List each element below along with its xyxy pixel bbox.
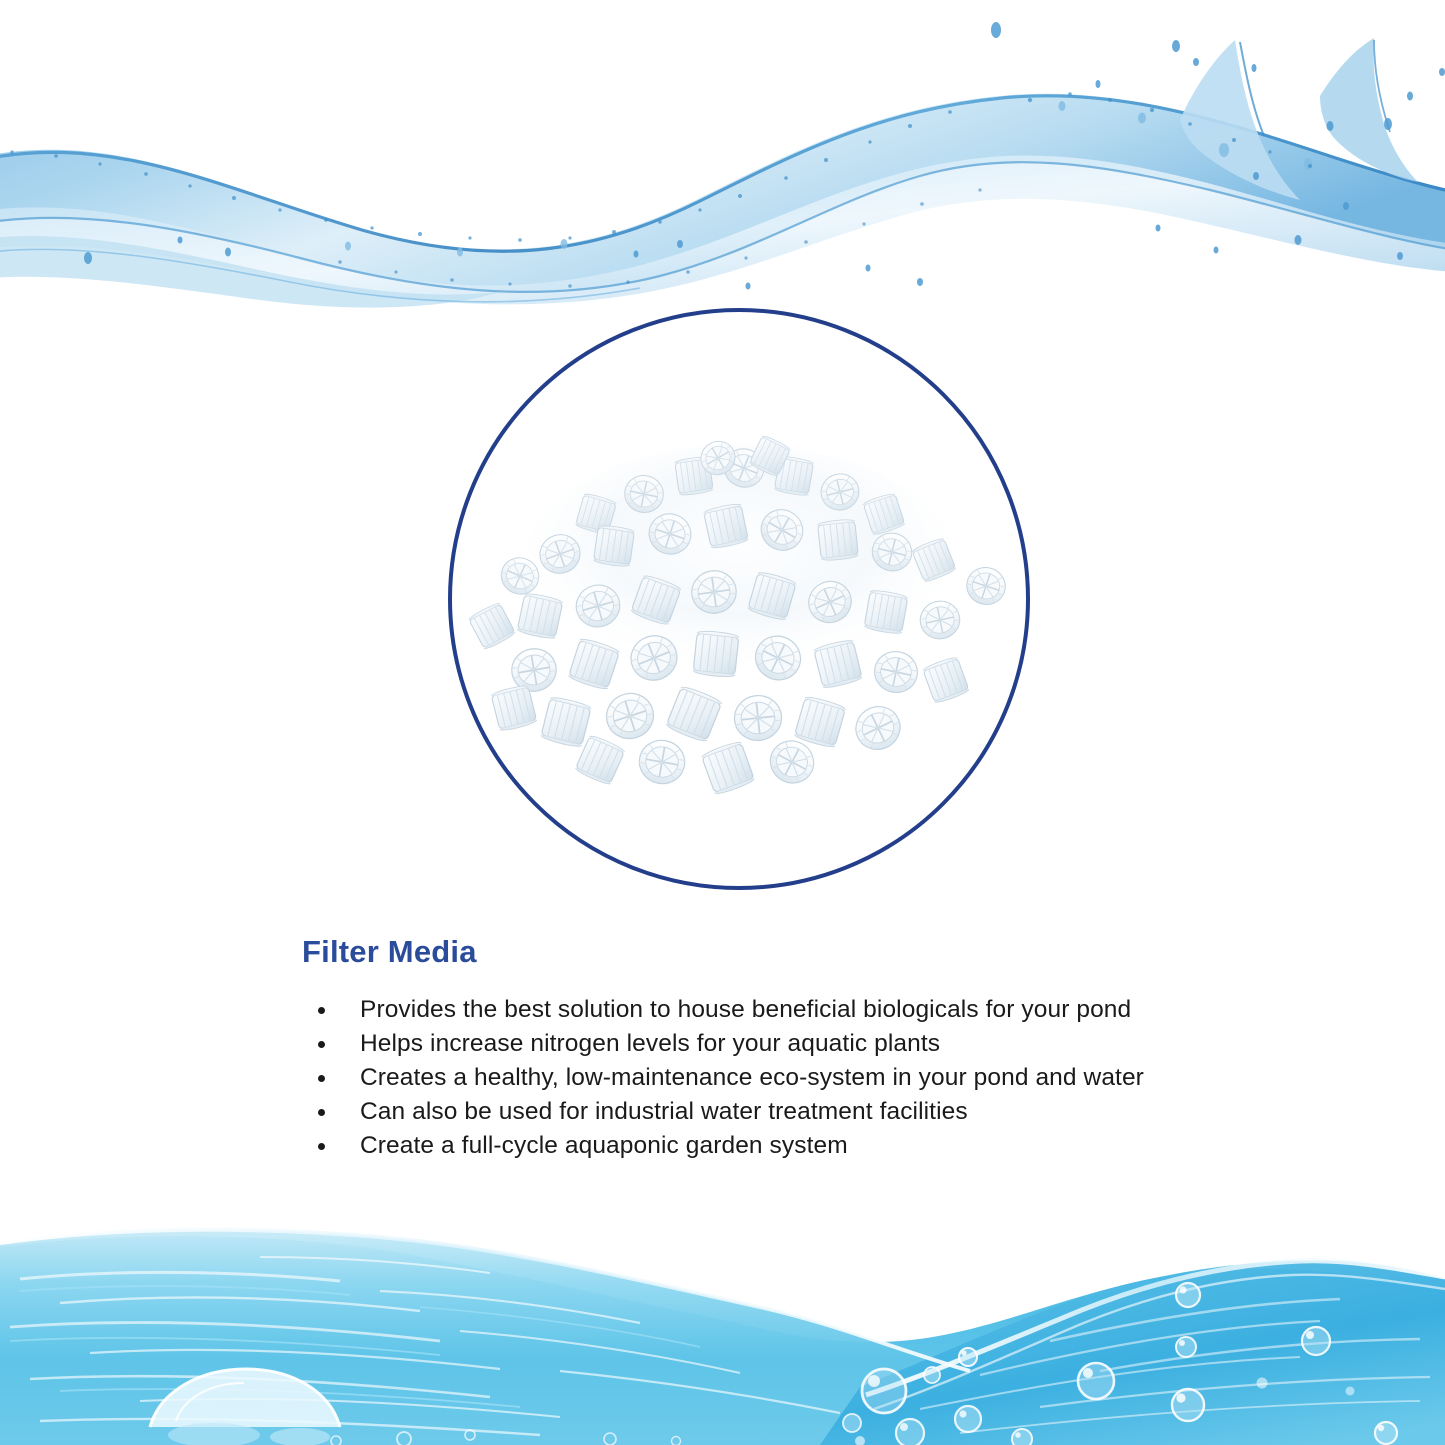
product-infographic-page: Filter Media Provides the best solution … (0, 0, 1445, 1445)
list-item: Creates a healthy, low-maintenance eco-s… (302, 1061, 1202, 1095)
bio-filter-media-photo (448, 308, 1030, 890)
list-item-label: Provides the best solution to house bene… (360, 996, 1131, 1023)
list-item: Provides the best solution to house bene… (302, 993, 1202, 1027)
list-item: Can also be used for industrial water tr… (302, 1095, 1202, 1129)
list-item: Create a full-cycle aquaponic garden sys… (302, 1129, 1202, 1163)
list-item-label: Helps increase nitrogen levels for your … (360, 1030, 940, 1057)
bullet-icon (318, 1109, 325, 1116)
feature-list: Provides the best solution to house bene… (302, 993, 1202, 1163)
bottom-water-graphic (0, 1195, 1445, 1445)
list-item: Helps increase nitrogen levels for your … (302, 1027, 1202, 1061)
list-item-label: Create a full-cycle aquaponic garden sys… (360, 1132, 848, 1159)
bullet-icon (318, 1041, 325, 1048)
page-title: Filter Media (302, 936, 1202, 969)
product-image-circle (448, 308, 1030, 890)
bullet-icon (318, 1143, 325, 1150)
bullet-icon (318, 1007, 325, 1014)
list-item-label: Creates a healthy, low-maintenance eco-s… (360, 1064, 1144, 1091)
bullet-icon (318, 1075, 325, 1082)
feature-text-block: Filter Media Provides the best solution … (302, 936, 1202, 1163)
list-item-label: Can also be used for industrial water tr… (360, 1098, 968, 1125)
top-water-splash-graphic (0, 0, 1445, 330)
